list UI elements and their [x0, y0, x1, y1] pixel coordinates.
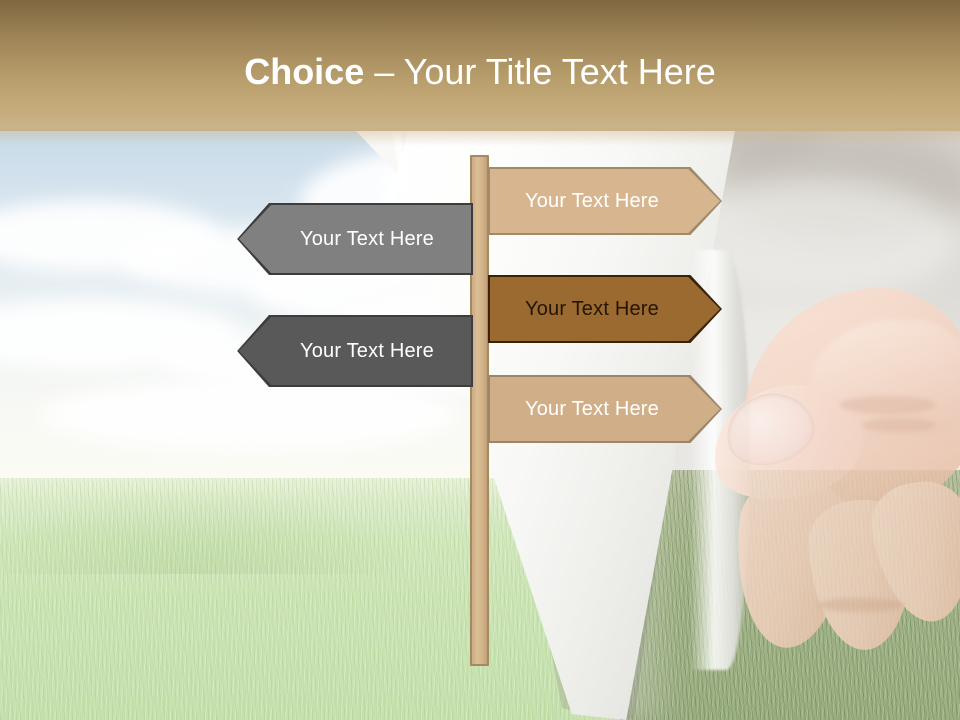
- sign-right-3[interactable]: Your Text Here: [488, 375, 722, 443]
- skin-crease: [818, 598, 904, 612]
- skin-crease: [862, 418, 936, 432]
- sign-left-2-label: Your Text Here: [300, 340, 434, 363]
- skin-crease: [840, 396, 936, 414]
- sign-right-2-label: Your Text Here: [525, 298, 659, 321]
- title-rest-part: Your Title Text Here: [404, 51, 716, 92]
- title-bold-part: Choice: [244, 51, 364, 92]
- sign-right-1-label: Your Text Here: [525, 190, 659, 213]
- title-bar-fade: [0, 112, 960, 146]
- sign-right-2-highlighted[interactable]: Your Text Here: [488, 275, 722, 343]
- slide-canvas: Your Text Here Your Text Here Your Text …: [0, 0, 960, 720]
- sign-left-2[interactable]: Your Text Here: [237, 315, 473, 387]
- page-title: Choice – Your Title Text Here: [0, 50, 960, 94]
- sign-left-1[interactable]: Your Text Here: [237, 203, 473, 275]
- sign-left-1-label: Your Text Here: [300, 228, 434, 251]
- sign-right-3-label: Your Text Here: [525, 398, 659, 421]
- hand-graphic: [690, 268, 960, 668]
- title-separator: –: [364, 51, 403, 92]
- sign-right-1[interactable]: Your Text Here: [488, 167, 722, 235]
